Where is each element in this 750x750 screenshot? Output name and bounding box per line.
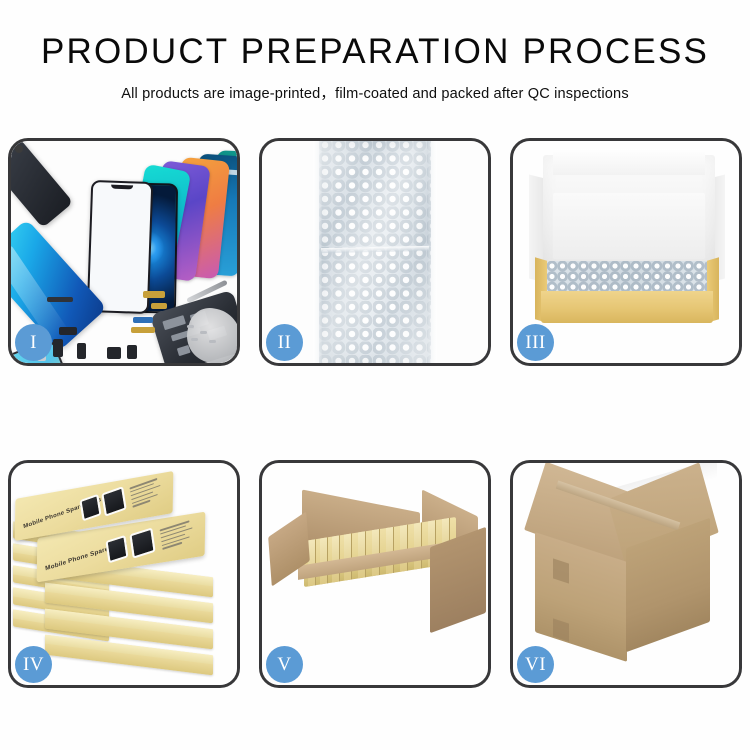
step-panel-3: III bbox=[510, 138, 742, 366]
bubble-wrap-sleeve bbox=[319, 141, 431, 363]
process-grid: I II bbox=[8, 138, 742, 688]
step-panel-6: VI bbox=[510, 460, 742, 688]
part-flex-cable-2 bbox=[151, 303, 167, 309]
box-spec-lines-back bbox=[129, 477, 164, 510]
step-badge-4: IV bbox=[15, 646, 52, 683]
header: PRODUCT PREPARATION PROCESS All products… bbox=[0, 0, 750, 103]
part-flex-cable-1 bbox=[143, 291, 165, 298]
part-flex-cable-3 bbox=[131, 327, 155, 333]
part-speaker-bar bbox=[47, 297, 73, 302]
box-spec-lines-front bbox=[160, 519, 197, 552]
product-preparation-page: PRODUCT PREPARATION PROCESS All products… bbox=[0, 0, 750, 750]
step-badge-3: III bbox=[517, 324, 554, 361]
step-badge-1: I bbox=[15, 324, 52, 361]
phone-screen-black-tilted bbox=[11, 141, 73, 228]
part-blue-flex bbox=[133, 317, 153, 323]
foam-sheet bbox=[553, 193, 705, 259]
box-art-chip-back-1 bbox=[79, 494, 101, 522]
part-camera-module bbox=[107, 347, 121, 359]
part-button-module bbox=[127, 345, 137, 359]
screws-group bbox=[187, 325, 223, 347]
step-panel-5: V bbox=[259, 460, 491, 688]
bubble-wrap-inside bbox=[547, 261, 707, 295]
step-badge-5: V bbox=[266, 646, 303, 683]
step-badge-6: VI bbox=[517, 646, 554, 683]
box-art-chip-back-2 bbox=[101, 486, 126, 517]
page-title: PRODUCT PREPARATION PROCESS bbox=[0, 34, 750, 71]
box-art-chip-front-2 bbox=[129, 527, 155, 558]
step-panel-2: II bbox=[259, 138, 491, 366]
box-art-chip-front-1 bbox=[105, 535, 128, 563]
step-panel-4: Mobile Phone Spare Parts Mobile Phone Sp… bbox=[8, 460, 240, 688]
carton-body-front bbox=[298, 557, 430, 643]
step-panel-1: I bbox=[8, 138, 240, 366]
page-subtitle: All products are image-printed，film-coat… bbox=[0, 82, 750, 103]
box-front-kraft bbox=[541, 291, 713, 323]
part-connector-3 bbox=[77, 343, 86, 359]
part-connector-2 bbox=[53, 339, 63, 357]
part-connector-1 bbox=[59, 327, 77, 335]
step-badge-2: II bbox=[266, 324, 303, 361]
